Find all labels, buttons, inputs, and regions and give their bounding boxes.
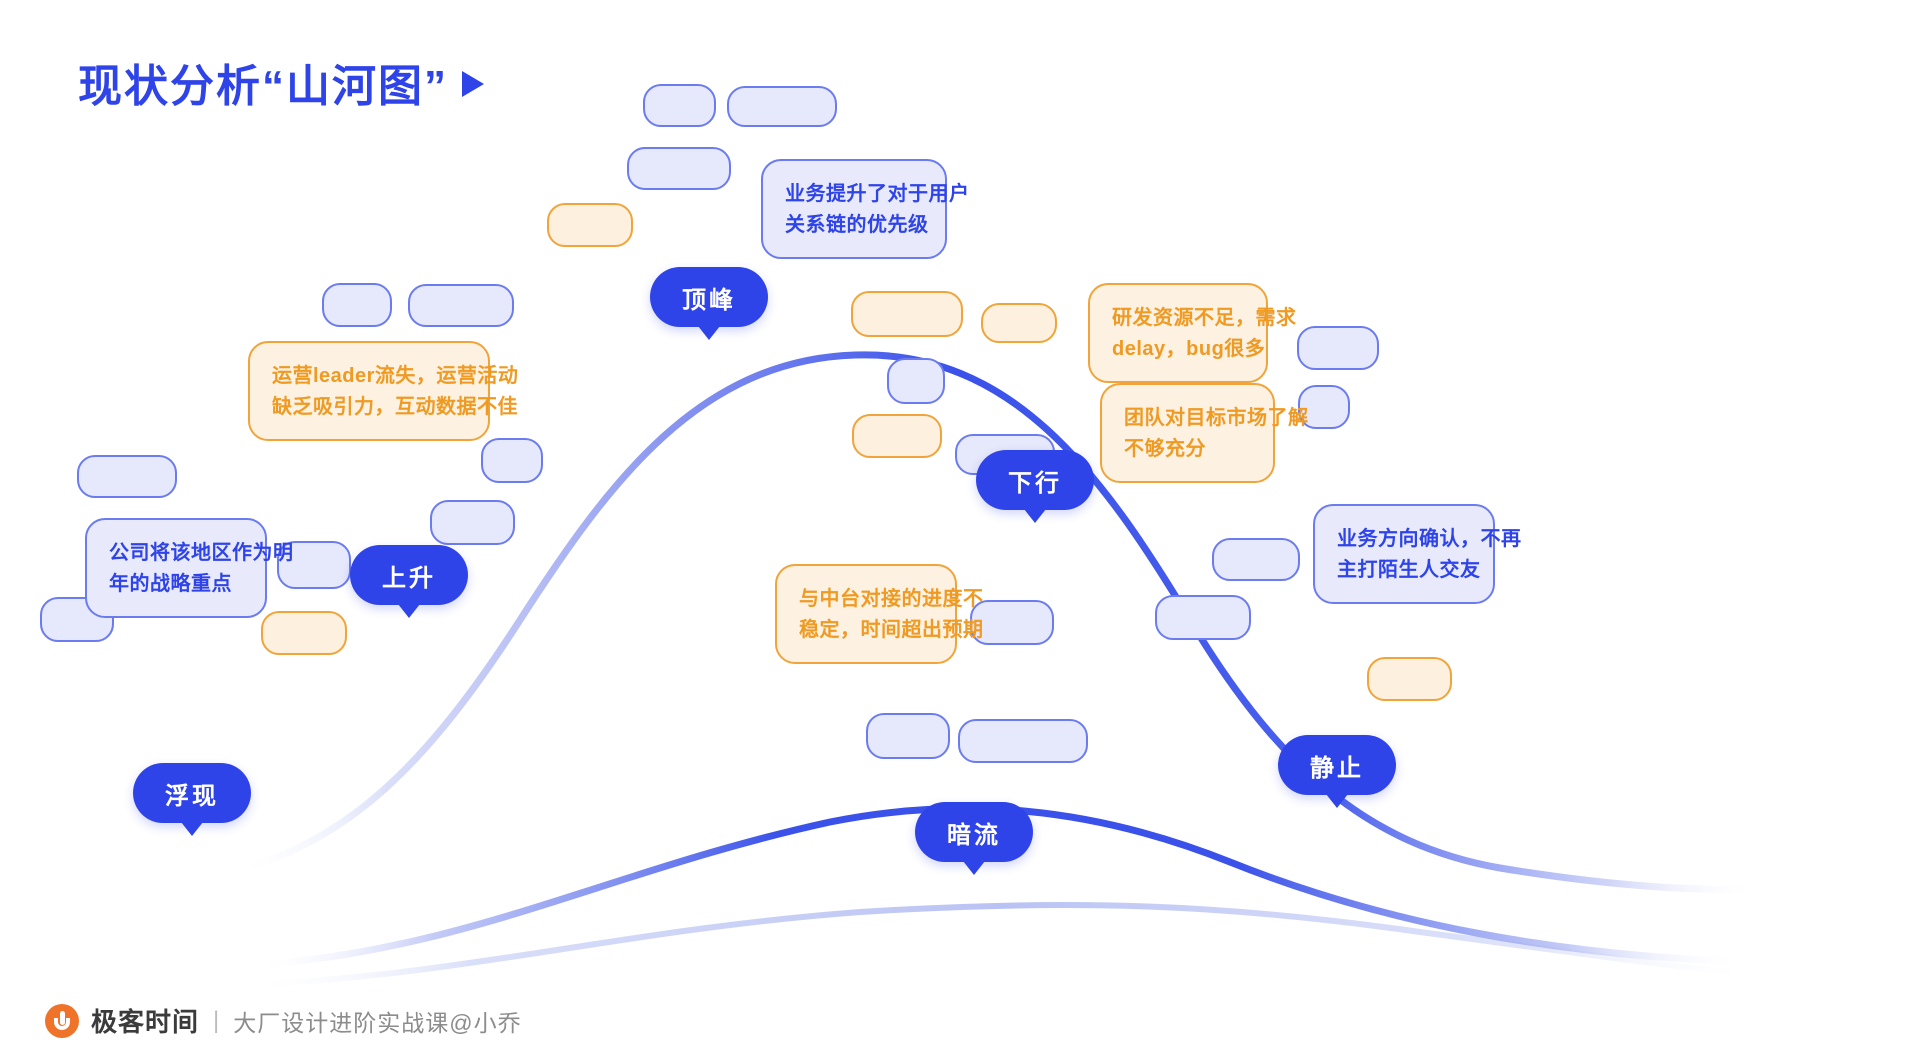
stage-badge-2[interactable]: 顶峰 — [650, 267, 768, 327]
placeholder-card[interactable] — [261, 611, 347, 655]
note-line: 关系链的优先级 — [785, 210, 925, 241]
placeholder-card[interactable] — [727, 86, 837, 127]
placeholder-card[interactable] — [1367, 657, 1452, 701]
stage-badge-pointer — [1326, 794, 1348, 808]
placeholder-card[interactable] — [852, 414, 942, 458]
placeholder-card[interactable] — [547, 203, 633, 247]
note-line: 与中台对接的进度不 — [799, 584, 935, 615]
note-market-understanding[interactable]: 团队对目标市场了解不够充分 — [1100, 383, 1275, 483]
note-midplatform-progress[interactable]: 与中台对接的进度不稳定，时间超出预期 — [775, 564, 957, 664]
stage-badge-5[interactable]: 静止 — [1278, 735, 1396, 795]
placeholder-card[interactable] — [322, 283, 392, 327]
note-line: delay，bug很多 — [1112, 334, 1246, 365]
note-line: 业务方向确认，不再 — [1337, 524, 1473, 555]
placeholder-card[interactable] — [958, 719, 1088, 763]
placeholder-card[interactable] — [77, 455, 177, 498]
note-company-strategy[interactable]: 公司将该地区作为明年的战略重点 — [85, 518, 267, 618]
note-line: 业务提升了对于用户 — [785, 179, 925, 210]
placeholder-card[interactable] — [408, 284, 514, 327]
placeholder-card[interactable] — [866, 713, 950, 759]
stage-badge-label: 静止 — [1310, 748, 1364, 783]
note-line: 研发资源不足，需求 — [1112, 303, 1246, 334]
stage-badge-pointer — [1024, 509, 1046, 523]
placeholder-card[interactable] — [851, 291, 963, 337]
placeholder-card[interactable] — [981, 303, 1057, 343]
note-business-direction[interactable]: 业务方向确认，不再主打陌生人交友 — [1313, 504, 1495, 604]
note-line: 团队对目标市场了解 — [1124, 403, 1253, 434]
stage-badge-0[interactable]: 浮现 — [133, 763, 251, 823]
stage-badge-3[interactable]: 下行 — [976, 450, 1094, 510]
placeholder-card[interactable] — [627, 147, 731, 190]
stage-badge-pointer — [963, 861, 985, 875]
stage-badge-label: 下行 — [1008, 463, 1062, 498]
stage-badge-label: 暗流 — [947, 815, 1001, 850]
note-line: 主打陌生人交友 — [1337, 555, 1473, 586]
placeholder-card[interactable] — [643, 84, 716, 127]
slide-canvas: 现状分析“山河图” — [0, 0, 1920, 1061]
note-rd-resource-shortage[interactable]: 研发资源不足，需求delay，bug很多 — [1088, 283, 1268, 383]
placeholder-card[interactable] — [481, 438, 543, 483]
stage-badge-4[interactable]: 暗流 — [915, 802, 1033, 862]
stage-badge-pointer — [181, 822, 203, 836]
placeholder-card[interactable] — [1155, 595, 1251, 640]
footer-brand: 极客时间 — [91, 1002, 199, 1039]
note-line: 不够充分 — [1124, 434, 1253, 465]
footer-tagline: 大厂设计进阶实战课@小乔 — [233, 1004, 521, 1038]
mountain-river-curves — [0, 0, 1920, 1061]
stage-badge-label: 上升 — [382, 558, 436, 593]
stage-badge-label: 顶峰 — [682, 280, 736, 315]
footer-separator: | — [213, 1007, 219, 1035]
note-ops-leader-churn[interactable]: 运营leader流失，运营活动缺乏吸引力，互动数据不佳 — [248, 341, 490, 441]
placeholder-card[interactable] — [1297, 326, 1379, 370]
note-line: 缺乏吸引力，互动数据不佳 — [272, 392, 468, 423]
note-line: 公司将该地区作为明 — [109, 538, 245, 569]
placeholder-card[interactable] — [430, 500, 515, 545]
placeholder-card[interactable] — [887, 358, 945, 404]
placeholder-card[interactable] — [1212, 538, 1300, 581]
stage-badge-label: 浮现 — [165, 776, 219, 811]
stage-badge-1[interactable]: 上升 — [350, 545, 468, 605]
note-line: 年的战略重点 — [109, 569, 245, 600]
note-line: 运营leader流失，运营活动 — [272, 361, 468, 392]
note-business-priority[interactable]: 业务提升了对于用户关系链的优先级 — [761, 159, 947, 259]
footer: 极客时间 | 大厂设计进阶实战课@小乔 — [45, 1002, 522, 1039]
geekbang-logo-icon — [45, 1004, 79, 1038]
note-line: 稳定，时间超出预期 — [799, 615, 935, 646]
stage-badge-pointer — [698, 326, 720, 340]
stage-badge-pointer — [398, 604, 420, 618]
